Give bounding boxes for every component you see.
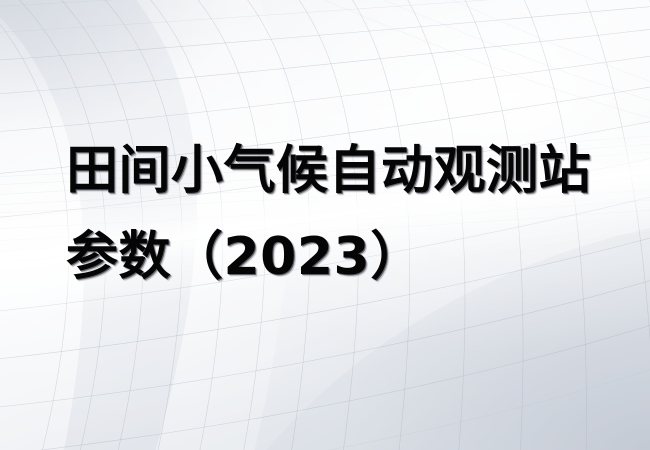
- title-line-1: 田间小气候自动观测站: [66, 128, 586, 214]
- title-line-2: 参数（2023）: [66, 214, 586, 300]
- title-slide: 田间小气候自动观测站 参数（2023）: [0, 0, 650, 450]
- page-title: 田间小气候自动观测站 参数（2023）: [66, 128, 586, 300]
